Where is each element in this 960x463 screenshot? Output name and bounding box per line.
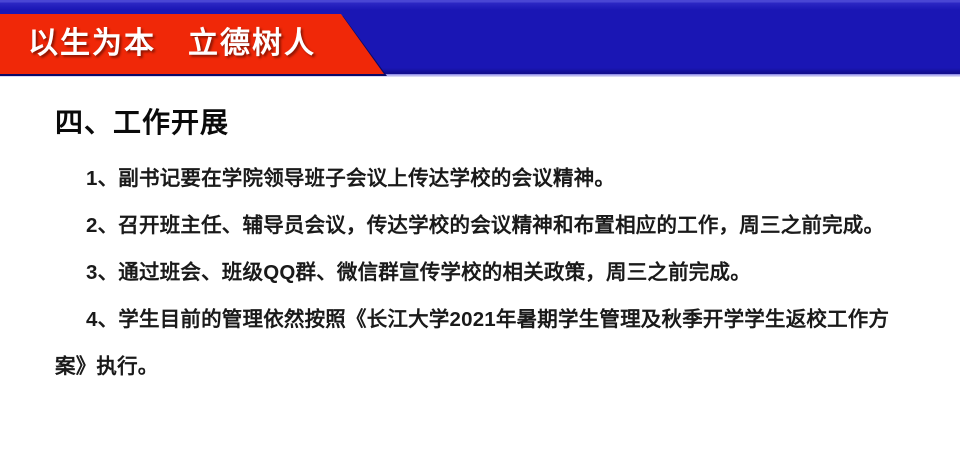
slogan-banner: 以生为本 立德树人 bbox=[0, 14, 400, 74]
list-item: 3、通过班会、班级QQ群、微信群宣传学校的相关政策，周三之前完成。 bbox=[0, 249, 960, 296]
page-title: 四、工作开展 bbox=[55, 101, 229, 141]
list-item-continuation: 案》执行。 bbox=[0, 343, 960, 390]
list-item: 4、学生目前的管理依然按照《长江大学2021年暑期学生管理及秋季开学学生返校工作… bbox=[0, 296, 960, 343]
content-list: 1、副书记要在学院领导班子会议上传达学校的会议精神。 2、召开班主任、辅导员会议… bbox=[0, 155, 960, 390]
slide-body: 四、工作开展 1、副书记要在学院领导班子会议上传达学校的会议精神。 2、召开班主… bbox=[0, 77, 960, 463]
slogan-banner-text: 以生为本 立德树人 bbox=[28, 14, 316, 74]
list-item: 1、副书记要在学院领导班子会议上传达学校的会议精神。 bbox=[0, 155, 960, 202]
list-item: 2、召开班主任、辅导员会议，传达学校的会议精神和布置相应的工作，周三之前完成。 bbox=[0, 202, 960, 249]
